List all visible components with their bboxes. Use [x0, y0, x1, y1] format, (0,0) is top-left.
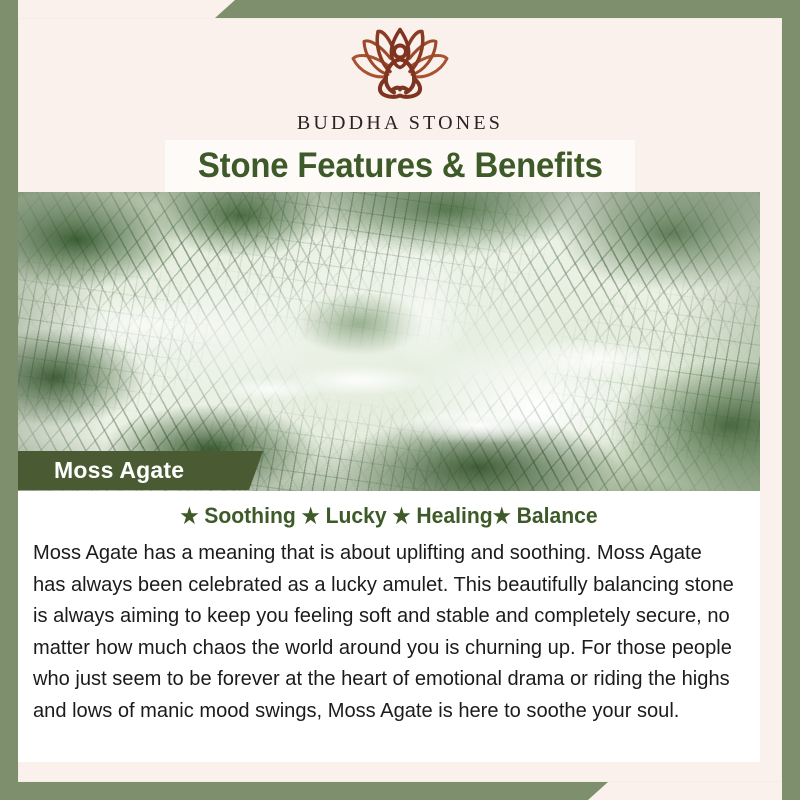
stone-name-banner: Moss Agate: [18, 451, 263, 490]
star-icon: ★: [493, 505, 511, 528]
benefit-label-lucky: Lucky: [320, 503, 393, 528]
agate-vignette-layer: [18, 192, 760, 491]
stone-description: Moss Agate has a meaning that is about u…: [33, 538, 734, 727]
benefit-label-balance: Balance: [511, 503, 598, 528]
frame-bar-bottom: [0, 782, 608, 800]
infographic-page: BUDDHA STONES Stone Features & Benefits …: [0, 0, 800, 800]
brand-header: BUDDHA STONES: [0, 22, 800, 135]
star-icon: ★: [180, 505, 198, 528]
benefit-label-soothing: Soothing: [198, 503, 301, 528]
frame-bar-top: [215, 0, 800, 18]
star-icon: ★: [302, 505, 320, 528]
page-title-card: Stone Features & Benefits: [165, 140, 635, 192]
lotus-meditation-icon: [340, 22, 460, 108]
benefits-list: ★ Soothing ★ Lucky ★ Healing★ Balance: [33, 503, 745, 529]
content-panel: ★ Soothing ★ Lucky ★ Healing★ Balance Mo…: [18, 491, 760, 762]
brand-name: BUDDHA STONES: [0, 112, 800, 135]
benefit-label-healing: Healing: [411, 503, 493, 528]
page-title: Stone Features & Benefits: [198, 146, 603, 186]
moss-agate-photo: [18, 192, 760, 491]
stone-name-label: Moss Agate: [54, 457, 184, 484]
star-icon: ★: [392, 505, 410, 528]
